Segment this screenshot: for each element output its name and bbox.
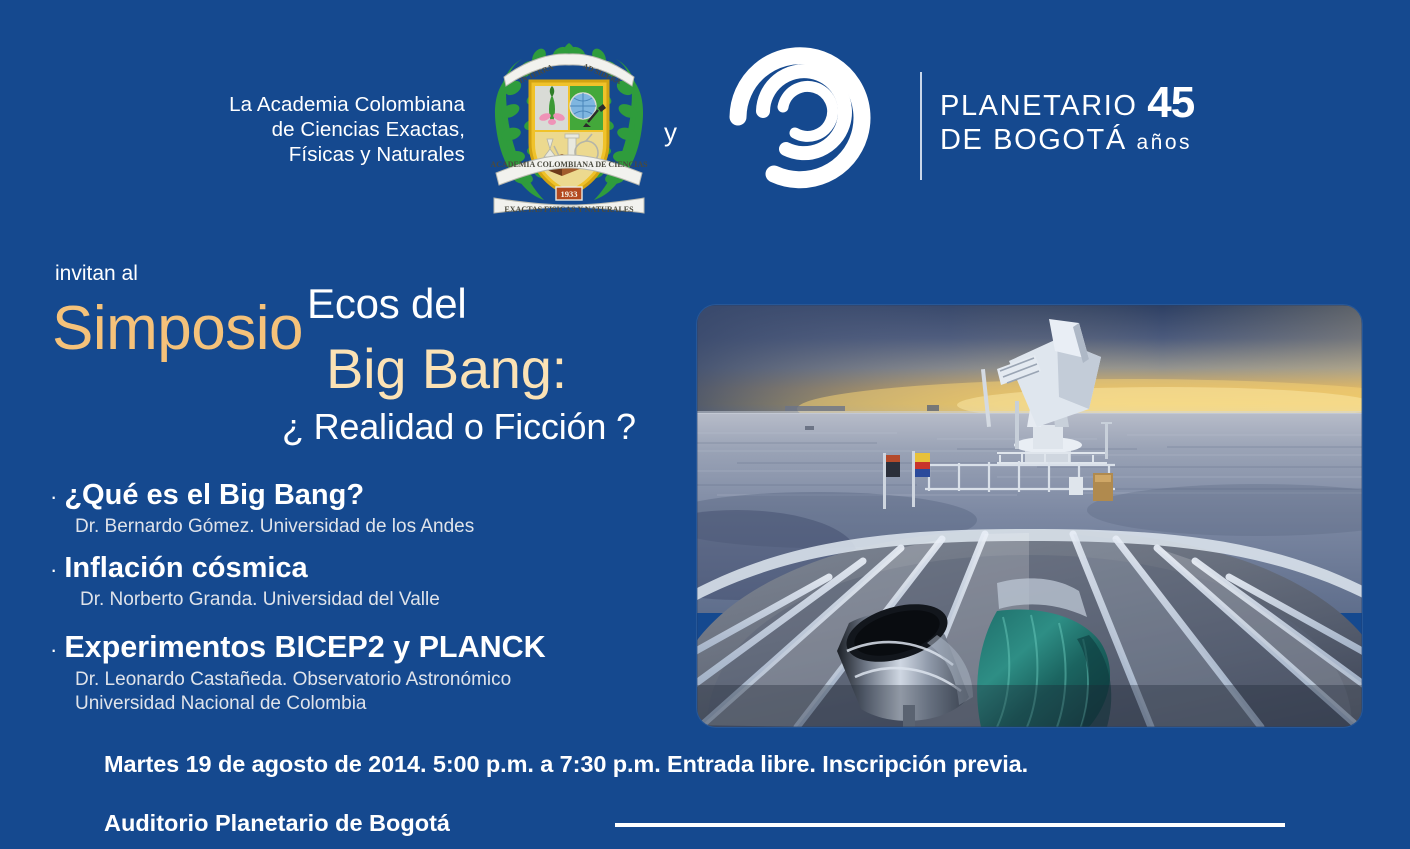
talk-speaker-affiliation: Universidad Nacional de Colombia (50, 692, 690, 715)
talk-title-text: ¿Qué es el Big Bang? (64, 479, 364, 511)
bullet-icon: · (50, 637, 64, 662)
talk-title: ·¿Qué es el Big Bang? (50, 478, 690, 514)
logo-divider (920, 72, 922, 180)
talk-item: ·Experimentos BICEP2 y PLANCK Dr. Leonar… (50, 630, 690, 715)
talk-item: ·¿Qué es el Big Bang? Dr. Bernardo Gómez… (50, 478, 690, 538)
footer-divider (615, 823, 1285, 827)
kicker-text: invitan al (55, 262, 138, 286)
academy-name-line-2: de Ciencias Exactas, (180, 117, 465, 142)
academy-name-line-3: Físicas y Naturales (180, 142, 465, 167)
event-venue-line: Auditorio Planetario de Bogotá (104, 809, 450, 837)
talk-title: ·Experimentos BICEP2 y PLANCK (50, 630, 690, 667)
academia-crest-icon: IN TERRA AD SIDERA (482, 33, 656, 218)
connector-label: y (664, 119, 677, 145)
poster-header: La Academia Colombiana de Ciencias Exact… (0, 0, 1410, 230)
talk-speaker: Dr. Bernardo Gómez. Universidad de los A… (50, 515, 690, 538)
planetario-label: PLANETARIO (940, 90, 1138, 122)
event-date-line: Martes 19 de agosto de 2014. 5:00 p.m. a… (104, 750, 1028, 778)
talk-title: ·Inflación cósmica (50, 551, 690, 587)
simposio-word: Simposio (52, 296, 303, 362)
talks-list: ·¿Qué es el Big Bang? Dr. Bernardo Gómez… (50, 478, 690, 724)
poster-root: La Academia Colombiana de Ciencias Exact… (0, 0, 1410, 849)
bicep2-telescope-photo (697, 305, 1362, 727)
bullet-icon: · (50, 484, 64, 509)
academy-name-block: La Academia Colombiana de Ciencias Exact… (180, 92, 465, 167)
academy-name-line-1: La Academia Colombiana (180, 92, 465, 117)
title-line-2: Big Bang: (326, 339, 567, 399)
title-line-3: ¿ Realidad o Ficción ? (282, 406, 636, 448)
planetario-line-1: PLANETARIO 45 (940, 86, 1194, 123)
planetario-line-2: DE BOGOTÁ años (940, 123, 1194, 160)
anniversary-number: 45 (1147, 78, 1194, 127)
planetario-spiral-icon (716, 45, 906, 200)
planetario-wordmark: PLANETARIO 45 DE BOGOTÁ años (940, 86, 1194, 160)
svg-text:EXACTAS FISICAS Y NATURALES: EXACTAS FISICAS Y NATURALES (504, 205, 634, 214)
bullet-icon: · (50, 557, 64, 582)
anniversary-word: años (1137, 131, 1193, 154)
talk-item: ·Inflación cósmica Dr. Norberto Granda. … (50, 551, 690, 611)
svg-text:ACADEMIA COLOMBIANA DE CIENCIA: ACADEMIA COLOMBIANA DE CIENCIAS (490, 160, 648, 169)
bogota-label: DE BOGOTÁ (940, 124, 1127, 156)
talk-title-text: Experimentos BICEP2 y PLANCK (64, 630, 545, 664)
talk-title-text: Inflación cósmica (64, 552, 307, 584)
title-line-1: Ecos del (307, 281, 467, 327)
talk-speaker: Dr. Leonardo Castañeda. Observatorio Ast… (50, 668, 690, 691)
svg-text:1933: 1933 (561, 189, 578, 199)
talk-speaker: Dr. Norberto Granda. Universidad del Val… (50, 588, 690, 611)
